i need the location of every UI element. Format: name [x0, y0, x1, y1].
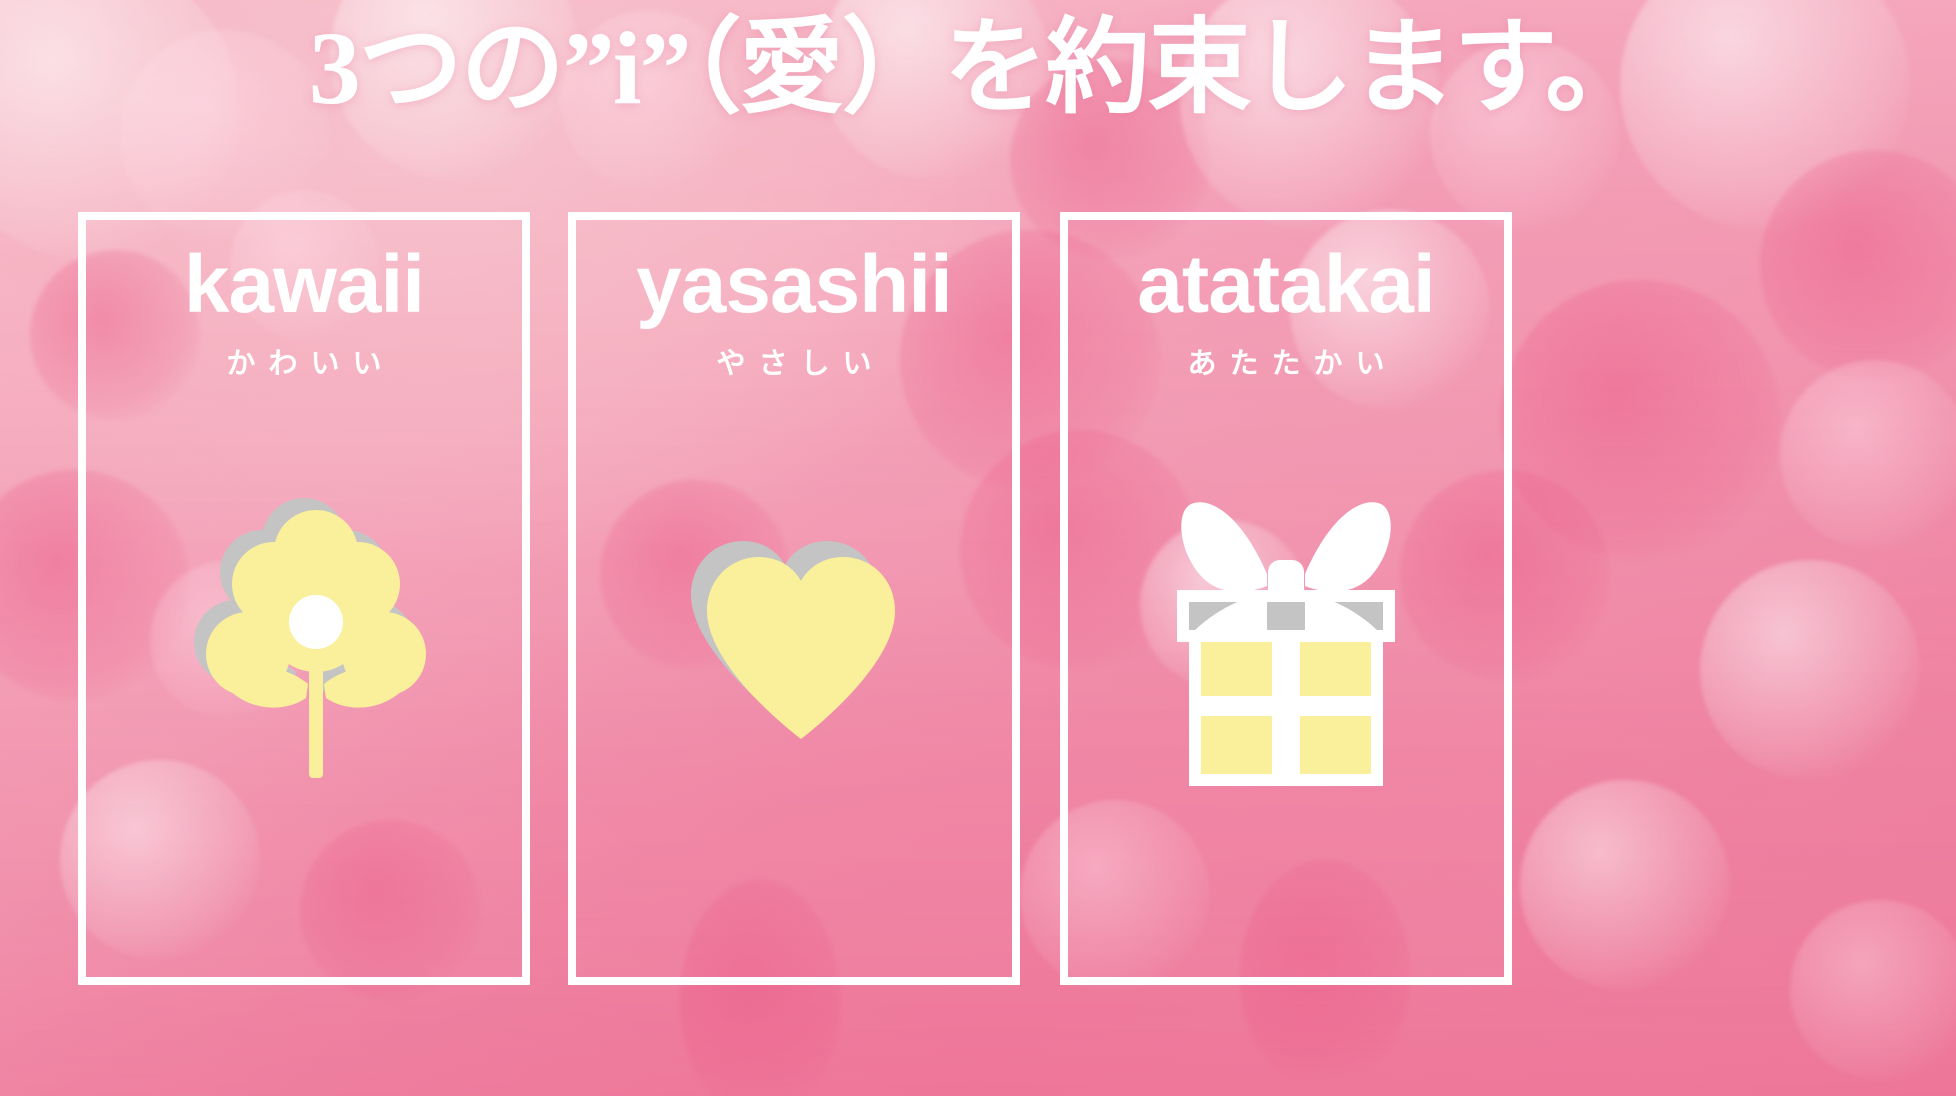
- promise-card-kawaii[interactable]: kawaii かわいい: [78, 212, 530, 985]
- card-romaji-label: atatakai: [1068, 240, 1504, 330]
- card-kana-label: かわいい: [86, 340, 522, 382]
- card-kana-label: やさしい: [576, 340, 1012, 382]
- card-romaji-label: yasashii: [576, 240, 1012, 330]
- heart-icon: [576, 400, 1012, 880]
- slide-canvas: 3つの”i”（愛）を約束します。 kawaii かわいい: [0, 0, 1956, 1096]
- gift-box-icon: [1068, 400, 1504, 880]
- promise-card-atatakai[interactable]: atatakai あたたかい: [1060, 212, 1512, 985]
- page-title: 3つの”i”（愛）を約束します。: [0, 4, 1956, 134]
- flower-icon: [86, 400, 522, 880]
- card-romaji-label: kawaii: [86, 240, 522, 330]
- card-kana-label: あたたかい: [1068, 340, 1504, 382]
- promise-card-yasashii[interactable]: yasashii やさしい: [568, 212, 1020, 985]
